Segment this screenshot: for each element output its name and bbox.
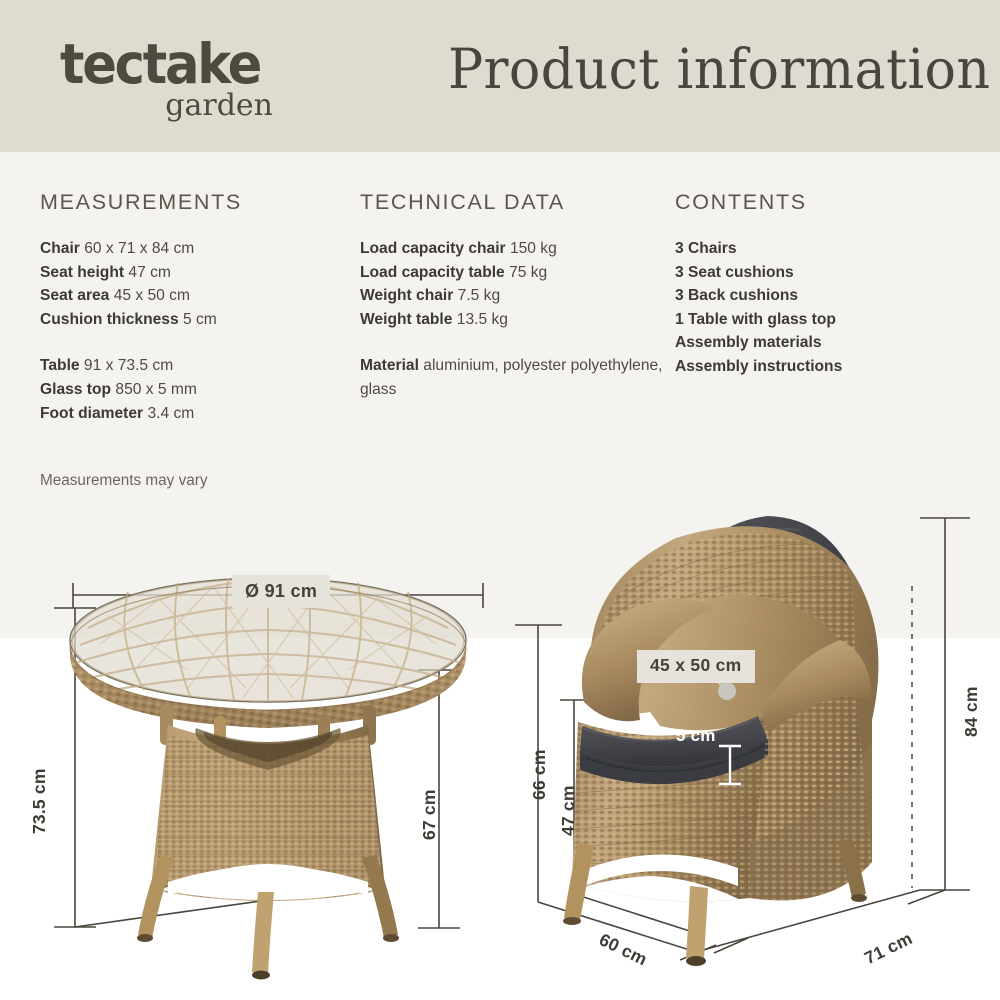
contents-item: 1 Table with glass top	[675, 308, 985, 332]
spec-row: Chair 60 x 71 x 84 cm	[40, 237, 355, 261]
contents-column: CONTENTS 3 Chairs 3 Seat cushions 3 Back…	[675, 190, 985, 379]
spec-row: Table 91 x 73.5 cm	[40, 354, 355, 378]
spec-row: Glass top 850 x 5 mm	[40, 378, 355, 402]
spec-value: 3.4 cm	[147, 405, 194, 422]
spec-value: 47 cm	[128, 264, 170, 281]
technical-data-column: TECHNICAL DATA Load capacity chair 150 k…	[360, 190, 670, 402]
spec-row: Foot diameter 3.4 cm	[40, 402, 355, 426]
spec-row: Load capacity table 75 kg	[360, 261, 670, 285]
spec-row: Load capacity chair 150 kg	[360, 237, 670, 261]
contents-item-label: Assembly materials	[675, 334, 822, 351]
contents-heading: CONTENTS	[675, 190, 985, 215]
chair-total-height-label: 84 cm	[963, 686, 981, 737]
spec-value: 7.5 kg	[458, 287, 500, 304]
spec-label: Seat height	[40, 264, 124, 281]
spec-row: Seat area 45 x 50 cm	[40, 284, 355, 308]
table-diameter-badge: Ø 91 cm	[232, 575, 330, 608]
contents-item: 3 Chairs	[675, 237, 985, 261]
material-row: Material aluminium, polyester polyethyle…	[360, 354, 670, 401]
spec-label: Seat area	[40, 287, 109, 304]
spec-value: 60 x 71 x 84 cm	[84, 240, 194, 257]
technical-data-heading: TECHNICAL DATA	[360, 190, 670, 215]
contents-item: Assembly materials	[675, 331, 985, 355]
product-information-sheet: tectake garden Product information MEASU…	[0, 0, 1000, 1000]
spec-row: Weight chair 7.5 kg	[360, 284, 670, 308]
spec-label: Weight chair	[360, 287, 453, 304]
spec-label: Foot diameter	[40, 405, 143, 422]
spec-value: 45 x 50 cm	[114, 287, 190, 304]
contents-item-label: Assembly instructions	[675, 358, 842, 375]
spec-label: Cushion thickness	[40, 311, 179, 328]
contents-item: 3 Seat cushions	[675, 261, 985, 285]
brand-logo-primary: tectake	[60, 38, 274, 90]
chair-illustration	[500, 490, 1000, 1000]
spec-row: Seat height 47 cm	[40, 261, 355, 285]
spec-value: 150 kg	[510, 240, 557, 257]
page-title: Product information	[448, 37, 990, 101]
contents-item-label: 3 Seat cushions	[675, 264, 794, 281]
spec-value: 91 x 73.5 cm	[84, 357, 173, 374]
chair-seat-area-badge: 45 x 50 cm	[637, 650, 755, 683]
spec-row: Weight table 13.5 kg	[360, 308, 670, 332]
spec-label: Weight table	[360, 311, 452, 328]
table-under-height-label: 67 cm	[421, 789, 439, 840]
spec-value: 850 x 5 mm	[115, 381, 196, 398]
cushion-thickness-label: 5 cm	[676, 727, 716, 744]
brand-logo: tectake garden	[60, 38, 290, 121]
table-total-height-label: 73.5 cm	[31, 768, 49, 834]
seat-area-pointer-dot	[718, 682, 736, 700]
spec-label: Table	[40, 357, 80, 374]
measurements-note: Measurements may vary	[40, 470, 355, 492]
spec-value: 75 kg	[509, 264, 547, 281]
spec-value: 5 cm	[183, 311, 217, 328]
spec-label: Load capacity chair	[360, 240, 506, 257]
spec-group-gap	[40, 331, 355, 354]
spec-row: Cushion thickness 5 cm	[40, 308, 355, 332]
spec-label: Glass top	[40, 381, 111, 398]
chair-seat-height-label: 47 cm	[560, 785, 578, 836]
contents-item: 3 Back cushions	[675, 284, 985, 308]
contents-item-label: 3 Back cushions	[675, 287, 798, 304]
spec-value: 13.5 kg	[457, 311, 508, 328]
spec-label: Chair	[40, 240, 80, 257]
chair-armrest-height-label: 66 cm	[531, 749, 549, 800]
contents-item-label: 1 Table with glass top	[675, 311, 836, 328]
spec-label: Load capacity table	[360, 264, 505, 281]
spec-group-gap	[360, 331, 670, 354]
contents-item-label: 3 Chairs	[675, 240, 737, 257]
material-label: Material	[360, 357, 419, 374]
measurements-heading: MEASUREMENTS	[40, 190, 355, 215]
contents-item: Assembly instructions	[675, 355, 985, 379]
measurements-column: MEASUREMENTS Chair 60 x 71 x 84 cm Seat …	[40, 190, 355, 492]
